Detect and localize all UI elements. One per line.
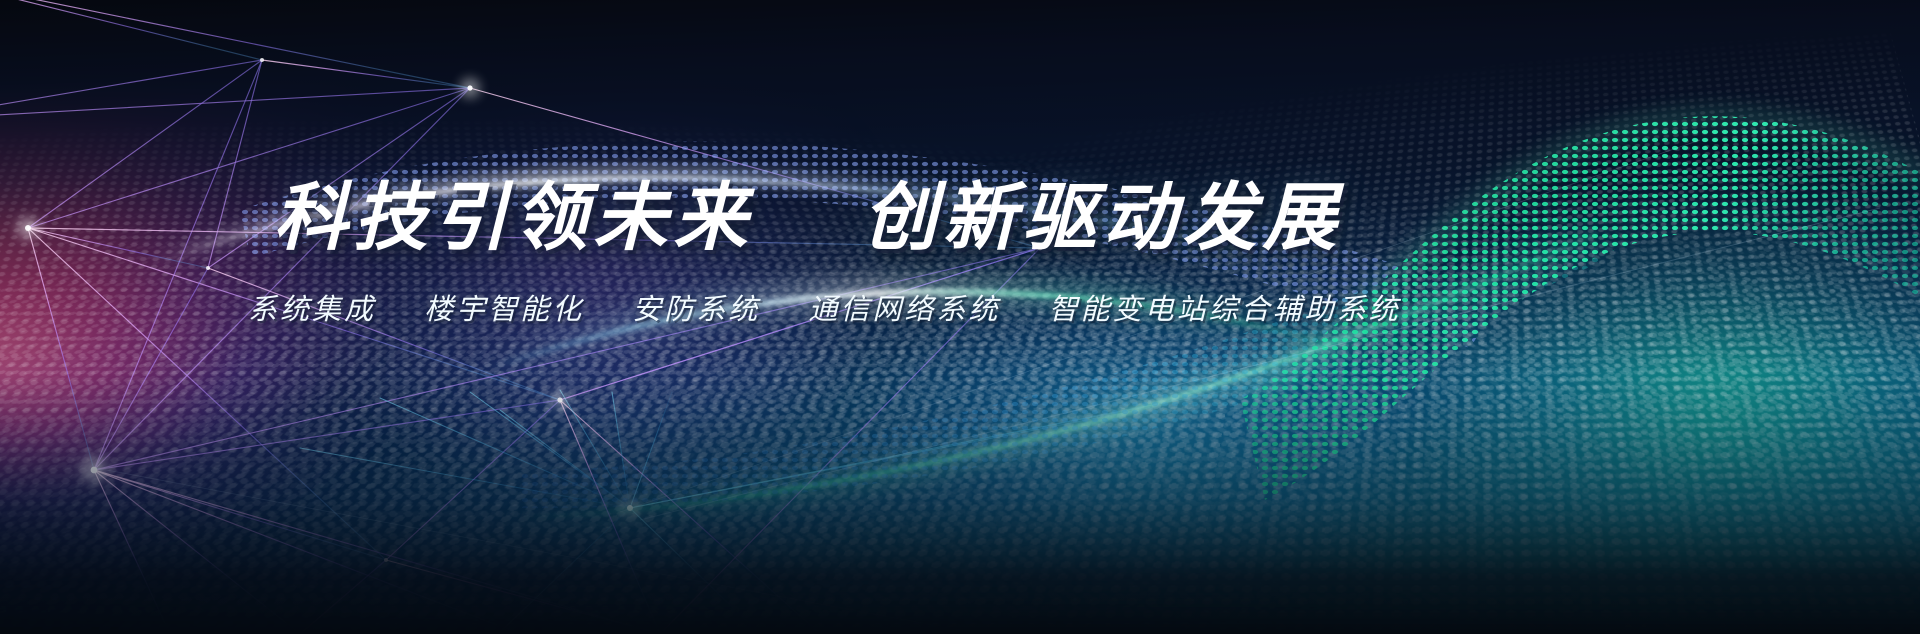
subline-item-1: 楼宇智能化: [424, 294, 584, 326]
subline-item-3: 通信网络系统: [808, 294, 1000, 326]
headline-right-phrase: 创新驱动发展: [863, 176, 1343, 259]
hero-banner: 科技引领未来 创新驱动发展 系统集成 楼宇智能化 安防系统 通信网络系统 智能变…: [0, 0, 1920, 634]
subline-item-2: 安防系统: [632, 294, 760, 326]
headline-left-phrase: 科技引领未来: [273, 176, 753, 259]
subline-item-0: 系统集成: [248, 294, 376, 326]
banner-headline: 科技引领未来 创新驱动发展: [248, 178, 1368, 258]
banner-subline: 系统集成 楼宇智能化 安防系统 通信网络系统 智能变电站综合辅助系统: [248, 286, 1368, 328]
subline-item-4: 智能变电站综合辅助系统: [1049, 294, 1401, 326]
bottom-vignette: [0, 374, 1920, 634]
banner-copy: 科技引领未来 创新驱动发展 系统集成 楼宇智能化 安防系统 通信网络系统 智能变…: [248, 178, 1368, 328]
